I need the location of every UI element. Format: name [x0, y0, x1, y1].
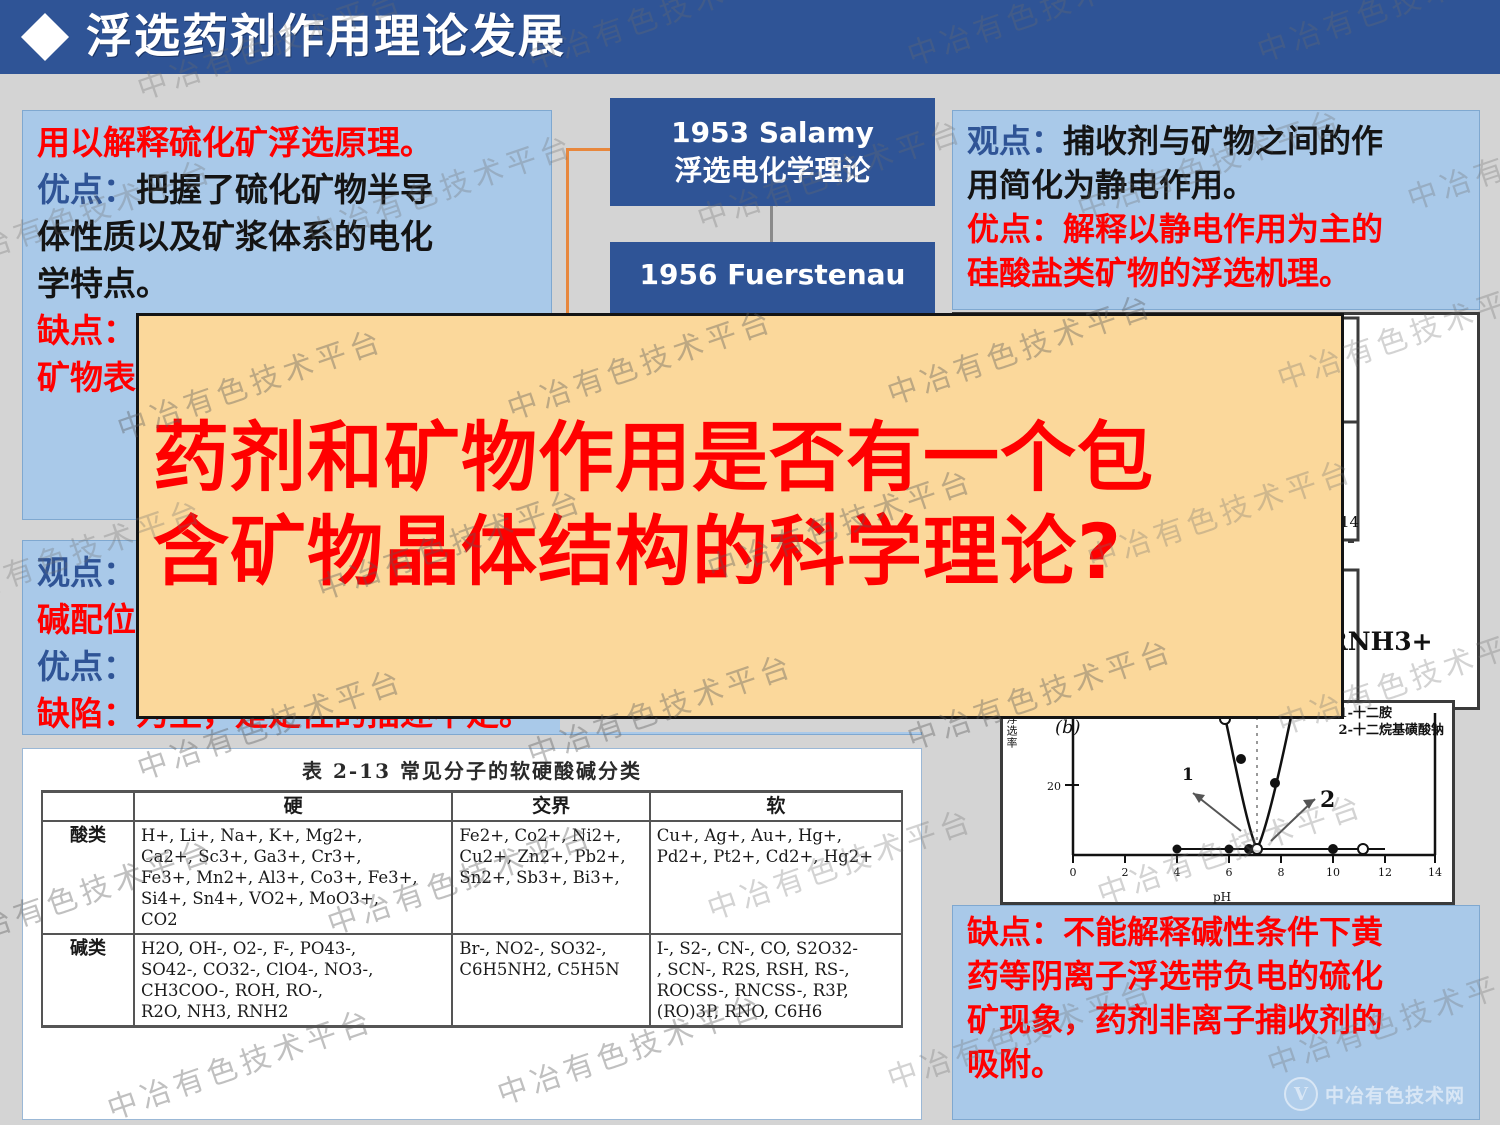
- table-row: 酸类 H+, Li+, Na+, K+, Mg2+, Ca2+, Sc3+, G…: [42, 821, 902, 934]
- text-line: 体性质以及矿浆体系的电化: [37, 213, 541, 260]
- svg-text:8: 8: [1278, 866, 1285, 879]
- cell-line: Br-, NO2-, SO32-,: [459, 938, 642, 959]
- chart-flotation-recovery: 浮选率 (b) 1-十二胺 2-十二烷基磺酸钠 20 0 2 4 6 8 10 …: [1000, 700, 1455, 905]
- text-line: 药等阴离子浮选带负电的硫化: [967, 954, 1469, 998]
- panel-top-right: 观点：捕收剂与矿物之间的作 用简化为静电作用。 优点：解释以静电作用为主的 硅酸…: [952, 110, 1480, 310]
- text-line: 硅酸盐类矿物的浮选机理。: [967, 251, 1469, 295]
- text-line: 学特点。: [37, 260, 541, 307]
- logo-text: 中冶有色技术网: [1325, 1081, 1465, 1108]
- svg-text:4: 4: [1174, 866, 1181, 879]
- cell-line: ROCSS-, RNCSS-, R3P,: [657, 980, 895, 1001]
- hsab-table: 硬 交界 软 酸类 H+, Li+, Na+, K+, Mg2+, Ca2+, …: [41, 790, 903, 1028]
- cell-line: , SCN-, R2S, RSH, RS-,: [657, 959, 895, 980]
- text-line-mixed: 优点：把握了硫化矿物半导: [37, 166, 541, 213]
- table-cell-border: Fe2+, Co2+, Ni2+, Cu2+, Zn2+, Pb2+, Sn2+…: [452, 821, 649, 934]
- overlay-line: 药剂和矿物作用是否有一个包: [153, 411, 1333, 505]
- cell-line: Si4+, Sn4+, VO2+, MoO3+,: [141, 888, 445, 909]
- text-line: 用简化为静电作用。: [967, 163, 1469, 207]
- cell-line: C6H5NH2, C5H5N: [459, 959, 642, 980]
- svg-text:6: 6: [1226, 866, 1233, 879]
- panel-bottom-right: 缺点：不能解释碱性条件下黄 药等阴离子浮选带负电的硫化 矿现象，药剂非离子捕收剂…: [952, 905, 1480, 1120]
- cell-line: CH3COO-, ROH, RO-,: [141, 980, 445, 1001]
- chart-annotation-2: 2: [1320, 787, 1335, 813]
- table-col-header: 软: [650, 792, 902, 822]
- cell-line: Sn2+, Sb3+, Bi3+,: [459, 867, 642, 888]
- table-col-header: [42, 792, 134, 822]
- cell-line: CO2: [141, 909, 445, 930]
- cell-line: H2O, OH-, O2-, F-, PO43-,: [141, 938, 445, 959]
- table-cell-soft: I-, S2-, CN-, CO, S2O32- , SCN-, R2S, RS…: [650, 934, 902, 1027]
- table-body: 酸类 H+, Li+, Na+, K+, Mg2+, Ca2+, Sc3+, G…: [42, 821, 902, 1027]
- table-col-header: 硬: [134, 792, 452, 822]
- table-head: 硬 交界 软: [42, 792, 902, 822]
- svg-text:10: 10: [1326, 866, 1340, 879]
- table-cell-border: Br-, NO2-, SO32-, C6H5NH2, C5H5N: [452, 934, 649, 1027]
- panel-top-right-body: 观点：捕收剂与矿物之间的作 用简化为静电作用。 优点：解释以静电作用为主的 硅酸…: [953, 111, 1479, 295]
- diamond-icon: [21, 13, 69, 61]
- table-cell-hard: H2O, OH-, O2-, F-, PO43-, SO42-, CO32-, …: [134, 934, 452, 1027]
- table-row: 碱类 H2O, OH-, O2-, F-, PO43-, SO42-, CO32…: [42, 934, 902, 1027]
- chart-x-axis-label: pH: [1213, 890, 1231, 904]
- page-title: 浮选药剂作用理论发展: [86, 2, 566, 70]
- cell-line: SO42-, CO32-, ClO4-, NO3-,: [141, 959, 445, 980]
- flow-box-1953-line1: 1953 Salamy: [671, 114, 874, 152]
- svg-text:14: 14: [1428, 866, 1442, 879]
- cell-line: (RO)3P, RNO, C6H6: [657, 1001, 895, 1022]
- panel-bottom-right-body: 缺点：不能解释碱性条件下黄 药等阴离子浮选带负电的硫化 矿现象，药剂非离子捕收剂…: [953, 906, 1479, 1086]
- slide-header: 浮选药剂作用理论发展: [0, 0, 1500, 74]
- svg-text:12: 12: [1378, 866, 1392, 879]
- cell-line: R2O, NH3, RNH2: [141, 1001, 445, 1022]
- text-line: 用以解释硫化矿浮选原理。: [37, 119, 541, 166]
- text-line: 优点：解释以静电作用为主的: [967, 207, 1469, 251]
- chart-svg: 20 0 2 4 6 8 10 12 14: [1003, 703, 1452, 902]
- cell-line: I-, S2-, CN-, CO, S2O32-: [657, 938, 895, 959]
- overlay-line: 含矿物晶体结构的科学理论?: [153, 505, 1333, 599]
- overlay-question-text: 药剂和矿物作用是否有一个包 含矿物晶体结构的科学理论?: [153, 411, 1333, 599]
- cell-line: Fe2+, Co2+, Ni2+,: [459, 825, 642, 846]
- flow-box-1956-line1: 1956 Fuerstenau: [640, 256, 906, 294]
- table-row-label: 碱类: [42, 934, 134, 1027]
- text-fragment: 观点：: [967, 122, 1063, 160]
- svg-text:0: 0: [1070, 866, 1077, 879]
- svg-text:2: 2: [1122, 866, 1129, 879]
- globe-icon: V: [1284, 1077, 1318, 1111]
- table-cell-hard: H+, Li+, Na+, K+, Mg2+, Ca2+, Sc3+, Ga3+…: [134, 821, 452, 934]
- text-fragment: 把握了硫化矿物半导: [136, 170, 433, 209]
- cell-line: Ca2+, Sc3+, Ga3+, Cr3+,: [141, 846, 445, 867]
- table-title: 表 2-13 常见分子的软硬酸碱分类: [23, 749, 921, 784]
- text-line-mixed: 观点：捕收剂与矿物之间的作: [967, 119, 1469, 163]
- table-row-label: 酸类: [42, 821, 134, 934]
- cell-line: Pd2+, Pt2+, Cd2+, Hg2+: [657, 846, 895, 867]
- table-header-row: 硬 交界 软: [42, 792, 902, 822]
- chart-annotation-1: 1: [1182, 765, 1194, 785]
- flow-box-1953-line2: 浮选电化学理论: [674, 152, 870, 190]
- text-line: 缺点：不能解释碱性条件下黄: [967, 910, 1469, 954]
- cell-line: Cu2+, Zn2+, Pb2+,: [459, 846, 642, 867]
- flow-connector-vertical: [770, 206, 773, 242]
- hsab-table-figure: 表 2-13 常见分子的软硬酸碱分类 硬 交界 软 酸类 H+, Li+, Na…: [22, 748, 922, 1120]
- text-line: 矿现象，药剂非离子捕收剂的: [967, 998, 1469, 1042]
- table-col-header: 交界: [452, 792, 649, 822]
- table-cell-soft: Cu+, Ag+, Au+, Hg+, Pd2+, Pt2+, Cd2+, Hg…: [650, 821, 902, 934]
- cell-line: Fe3+, Mn2+, Al3+, Co3+, Fe3+,: [141, 867, 445, 888]
- site-logo: V 中冶有色技术网: [1284, 1077, 1465, 1111]
- text-fragment: 缺陷：: [37, 694, 136, 733]
- cell-line: Cu+, Ag+, Au+, Hg+,: [657, 825, 895, 846]
- cell-line: H+, Li+, Na+, K+, Mg2+,: [141, 825, 445, 846]
- text-fragment: 捕收剂与矿物之间的作: [1063, 122, 1383, 160]
- question-overlay-box: 药剂和矿物作用是否有一个包 含矿物晶体结构的科学理论?: [136, 313, 1344, 719]
- slide-root: 浮选药剂作用理论发展 用以解释硫化矿浮选原理。 优点：把握了硫化矿物半导 体性质…: [0, 0, 1500, 1125]
- flow-box-1953[interactable]: 1953 Salamy 浮选电化学理论: [610, 98, 935, 206]
- text-fragment: 优点：: [37, 170, 136, 209]
- svg-text:20: 20: [1047, 780, 1061, 793]
